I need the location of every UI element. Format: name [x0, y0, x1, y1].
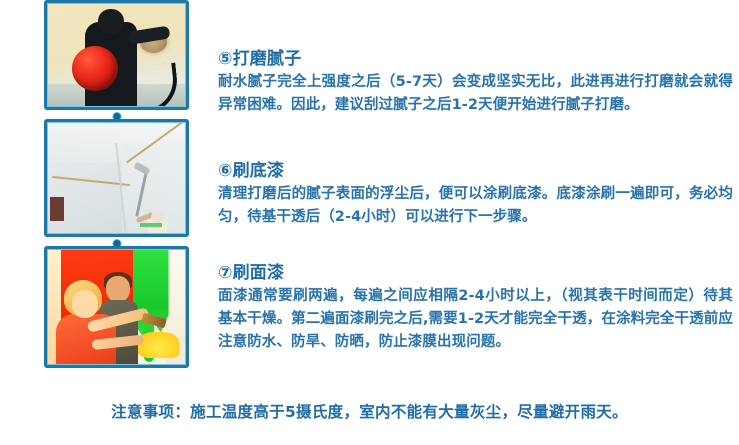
- photo3-yellow-splash: [137, 332, 179, 358]
- photo-priming-ceiling: [48, 123, 185, 233]
- photo1-worker-head: [98, 9, 124, 34]
- step-title-7: ⑦刷面漆: [218, 262, 733, 284]
- photo2-door-frame: [50, 197, 64, 221]
- photo-frame-topcoat-painting: [44, 246, 189, 368]
- photo2-green-accent: [140, 223, 162, 227]
- step-block-6: ⑥刷底漆 清理打磨后的腻子表面的浮尘后，便可以涂刷底漆。底漆涂刷一遍即可，务必均…: [218, 160, 733, 229]
- step-title-5: ⑤打磨腻子: [218, 48, 733, 70]
- photo-column: [44, 0, 189, 368]
- step-block-5: ⑤打磨腻子 耐水腻子完全上强度之后（5-7天）会变成坚实无比，此进再进行打磨就会…: [218, 48, 733, 117]
- page-root: { "page": { "background_color": "#ffffff…: [0, 0, 739, 445]
- photo-topcoat-painting: [48, 250, 185, 364]
- photo-frame-priming-ceiling: [44, 119, 189, 237]
- footer-note: 注意事项：施工温度高于5摄氏度，室内不能有大量灰尘，尽量避开雨天。: [0, 400, 739, 422]
- photo1-red-vacuum-backpack: [72, 46, 118, 91]
- step-title-6: ⑥刷底漆: [218, 160, 733, 182]
- step-block-7: ⑦刷面漆 面漆通常要刷两遍，每遍之间应相隔2-4小时以上，（视其表干时间而定）待…: [218, 262, 733, 354]
- step-body-7: 面漆通常要刷两遍，每遍之间应相隔2-4小时以上，（视其表干时间而定）待其基本干燥…: [218, 285, 733, 354]
- step-body-6: 清理打磨后的腻子表面的浮尘后，便可以涂刷底漆。底漆涂刷一遍即可，务必均匀，待基干…: [218, 183, 733, 229]
- step-body-5: 耐水腻子完全上强度之后（5-7天）会变成坚实无比，此进再进行打磨就会就得异常困难…: [218, 71, 733, 117]
- photo3-woman-face: [72, 290, 98, 318]
- photo-frame-sanding-putty: [44, 0, 189, 110]
- photo-sanding-putty: [48, 4, 185, 106]
- photo2-worker-head: [151, 211, 164, 223]
- photo3-man-head: [106, 276, 130, 302]
